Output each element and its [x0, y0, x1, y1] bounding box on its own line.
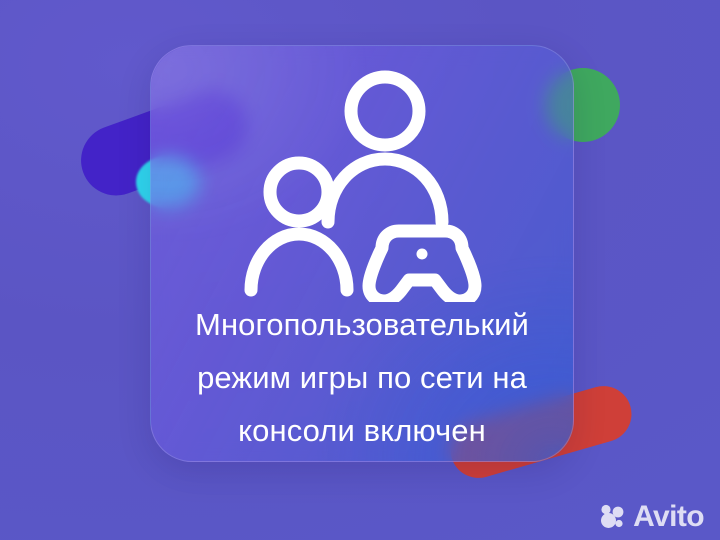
multiplayer-gamepad-icon	[232, 52, 492, 302]
glass-card: Многопользователький режим игры по сети …	[150, 45, 574, 462]
person-small-body-icon	[251, 234, 347, 290]
avito-wordmark: Avito	[633, 502, 704, 532]
person-large-head-icon	[351, 77, 419, 145]
card-caption: Многопользователький режим игры по сети …	[151, 298, 573, 457]
caption-line-2: режим игры по сети на	[157, 351, 567, 404]
caption-line-1: Многопользователький	[157, 298, 567, 351]
person-large-body-icon	[328, 159, 442, 222]
multiplayer-gamepad-glyph	[232, 52, 492, 302]
avito-watermark: Avito	[600, 502, 704, 532]
game-controller-icon	[369, 231, 475, 301]
promo-image-canvas: Многопользователький режим игры по сети …	[0, 0, 720, 540]
person-small-head-icon	[270, 163, 328, 221]
caption-line-3: консоли включен	[157, 404, 567, 457]
controller-center-dot-icon	[417, 249, 428, 260]
avito-dots-logo-icon	[600, 504, 626, 530]
